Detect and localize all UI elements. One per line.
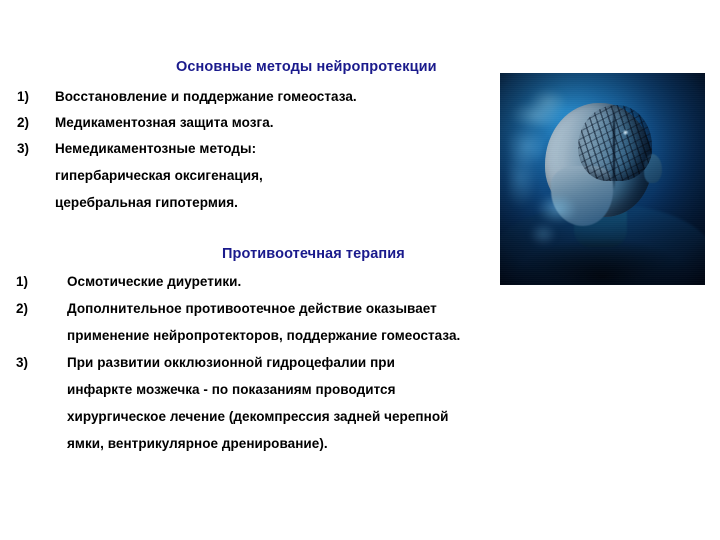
list-one-subitem-1: гипербарическая оксигенация, [55, 168, 263, 183]
image-grain [500, 73, 705, 285]
list-one-marker-1: 1) [17, 89, 29, 104]
list-one-item-2: Медикаментозная защита мозга. [55, 115, 274, 130]
list-two-marker-2: 2) [16, 301, 28, 316]
list-one-marker-3: 3) [17, 141, 29, 156]
list-one-item-1: Восстановление и поддержание гомеостаза. [55, 89, 357, 104]
list-two-item-3-line-3: хирургическое лечение (декомпрессия задн… [67, 409, 448, 424]
list-two-item-3-line-4: ямки, вентрикулярное дренирование). [67, 436, 328, 451]
slide-canvas: Основные методы нейропротекции 1) Восста… [0, 0, 720, 540]
brain-head-image [500, 73, 705, 285]
list-two-marker-1: 1) [16, 274, 28, 289]
list-two-item-2-line-2: применение нейропротекторов, поддержание… [67, 328, 460, 343]
list-two-item-2-line-1: Дополнительное противоотечное действие о… [67, 301, 437, 316]
list-two-item-3-line-1: При развитии окклюзионной гидроцефалии п… [67, 355, 395, 370]
list-two-item-3-line-2: инфаркте мозжечка - по показаниям провод… [67, 382, 396, 397]
list-one-marker-2: 2) [17, 115, 29, 130]
section-one-title: Основные методы нейропротекции [176, 59, 437, 75]
section-two-title: Противоотечная терапия [222, 246, 405, 262]
list-two-item-1-line-1: Осмотические диуретики. [67, 274, 241, 289]
list-one-subitem-2: церебральная гипотермия. [55, 195, 238, 210]
list-two-marker-3: 3) [16, 355, 28, 370]
list-one-item-3: Немедикаментозные методы: [55, 141, 256, 156]
